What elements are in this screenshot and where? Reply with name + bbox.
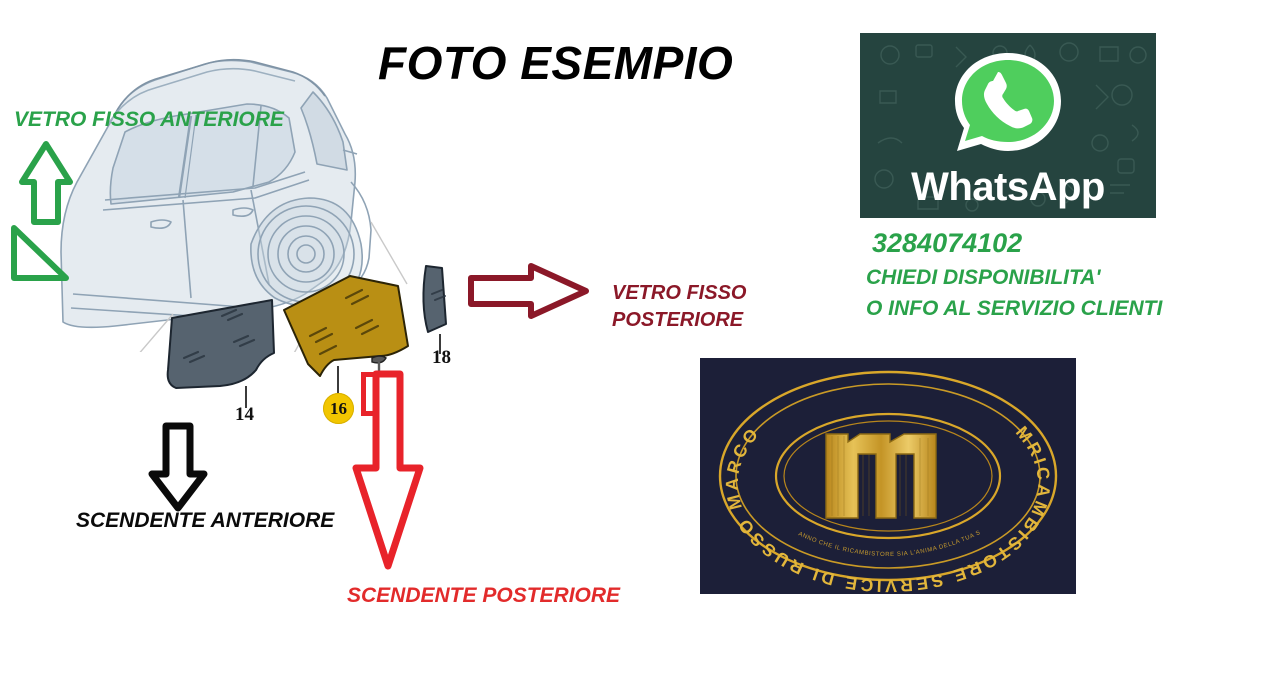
glass-part-16 bbox=[284, 276, 408, 376]
right-arrow-maroon bbox=[471, 266, 586, 316]
page-title: FOTO ESEMPIO bbox=[378, 36, 733, 90]
label-scendente-anteriore: SCENDENTE ANTERIORE bbox=[76, 509, 334, 534]
label-vetro-fisso-posteriore-line1: VETRO FISSO bbox=[612, 280, 746, 307]
part-number-16-badge: 16 bbox=[323, 393, 354, 424]
label-vetro-fisso-anteriore: VETRO FISSO ANTERIORE bbox=[14, 108, 284, 133]
brand-logo: MRICAMBISTORE SERVICE DI RUSSO MARCO ALT… bbox=[700, 358, 1076, 594]
down-arrow-black bbox=[152, 426, 204, 508]
label-scendente-posteriore: SCENDENTE POSTERIORE bbox=[347, 584, 620, 609]
exploded-glass-panels bbox=[150, 258, 480, 428]
part-number-18: 18 bbox=[432, 347, 451, 369]
label-vetro-fisso-posteriore: VETRO FISSO POSTERIORE bbox=[612, 280, 746, 334]
glass-part-18 bbox=[423, 266, 446, 332]
contact-line-1: CHIEDI DISPONIBILITA' bbox=[866, 266, 1100, 290]
whatsapp-icon bbox=[949, 47, 1067, 165]
contact-line-2: O INFO AL SERVIZIO CLIENTI bbox=[866, 297, 1162, 321]
whatsapp-banner: WhatsApp bbox=[860, 33, 1156, 218]
contact-phone-number: 3284074102 bbox=[872, 228, 1022, 259]
brand-logo-banner: MRICAMBISTORE SERVICE DI RUSSO MARCO ALT… bbox=[700, 358, 1076, 594]
whatsapp-wordmark: WhatsApp bbox=[860, 165, 1156, 210]
poster-canvas: 14 17 18 16 FOTO ESEMPIO VETRO FISSO ANT… bbox=[0, 0, 1264, 678]
glass-part-14 bbox=[168, 300, 274, 388]
label-vetro-fisso-posteriore-line2: POSTERIORE bbox=[612, 307, 746, 334]
brand-monogram bbox=[826, 434, 936, 518]
part-number-14: 14 bbox=[235, 404, 254, 426]
highlight-box-part-17 bbox=[361, 372, 398, 416]
